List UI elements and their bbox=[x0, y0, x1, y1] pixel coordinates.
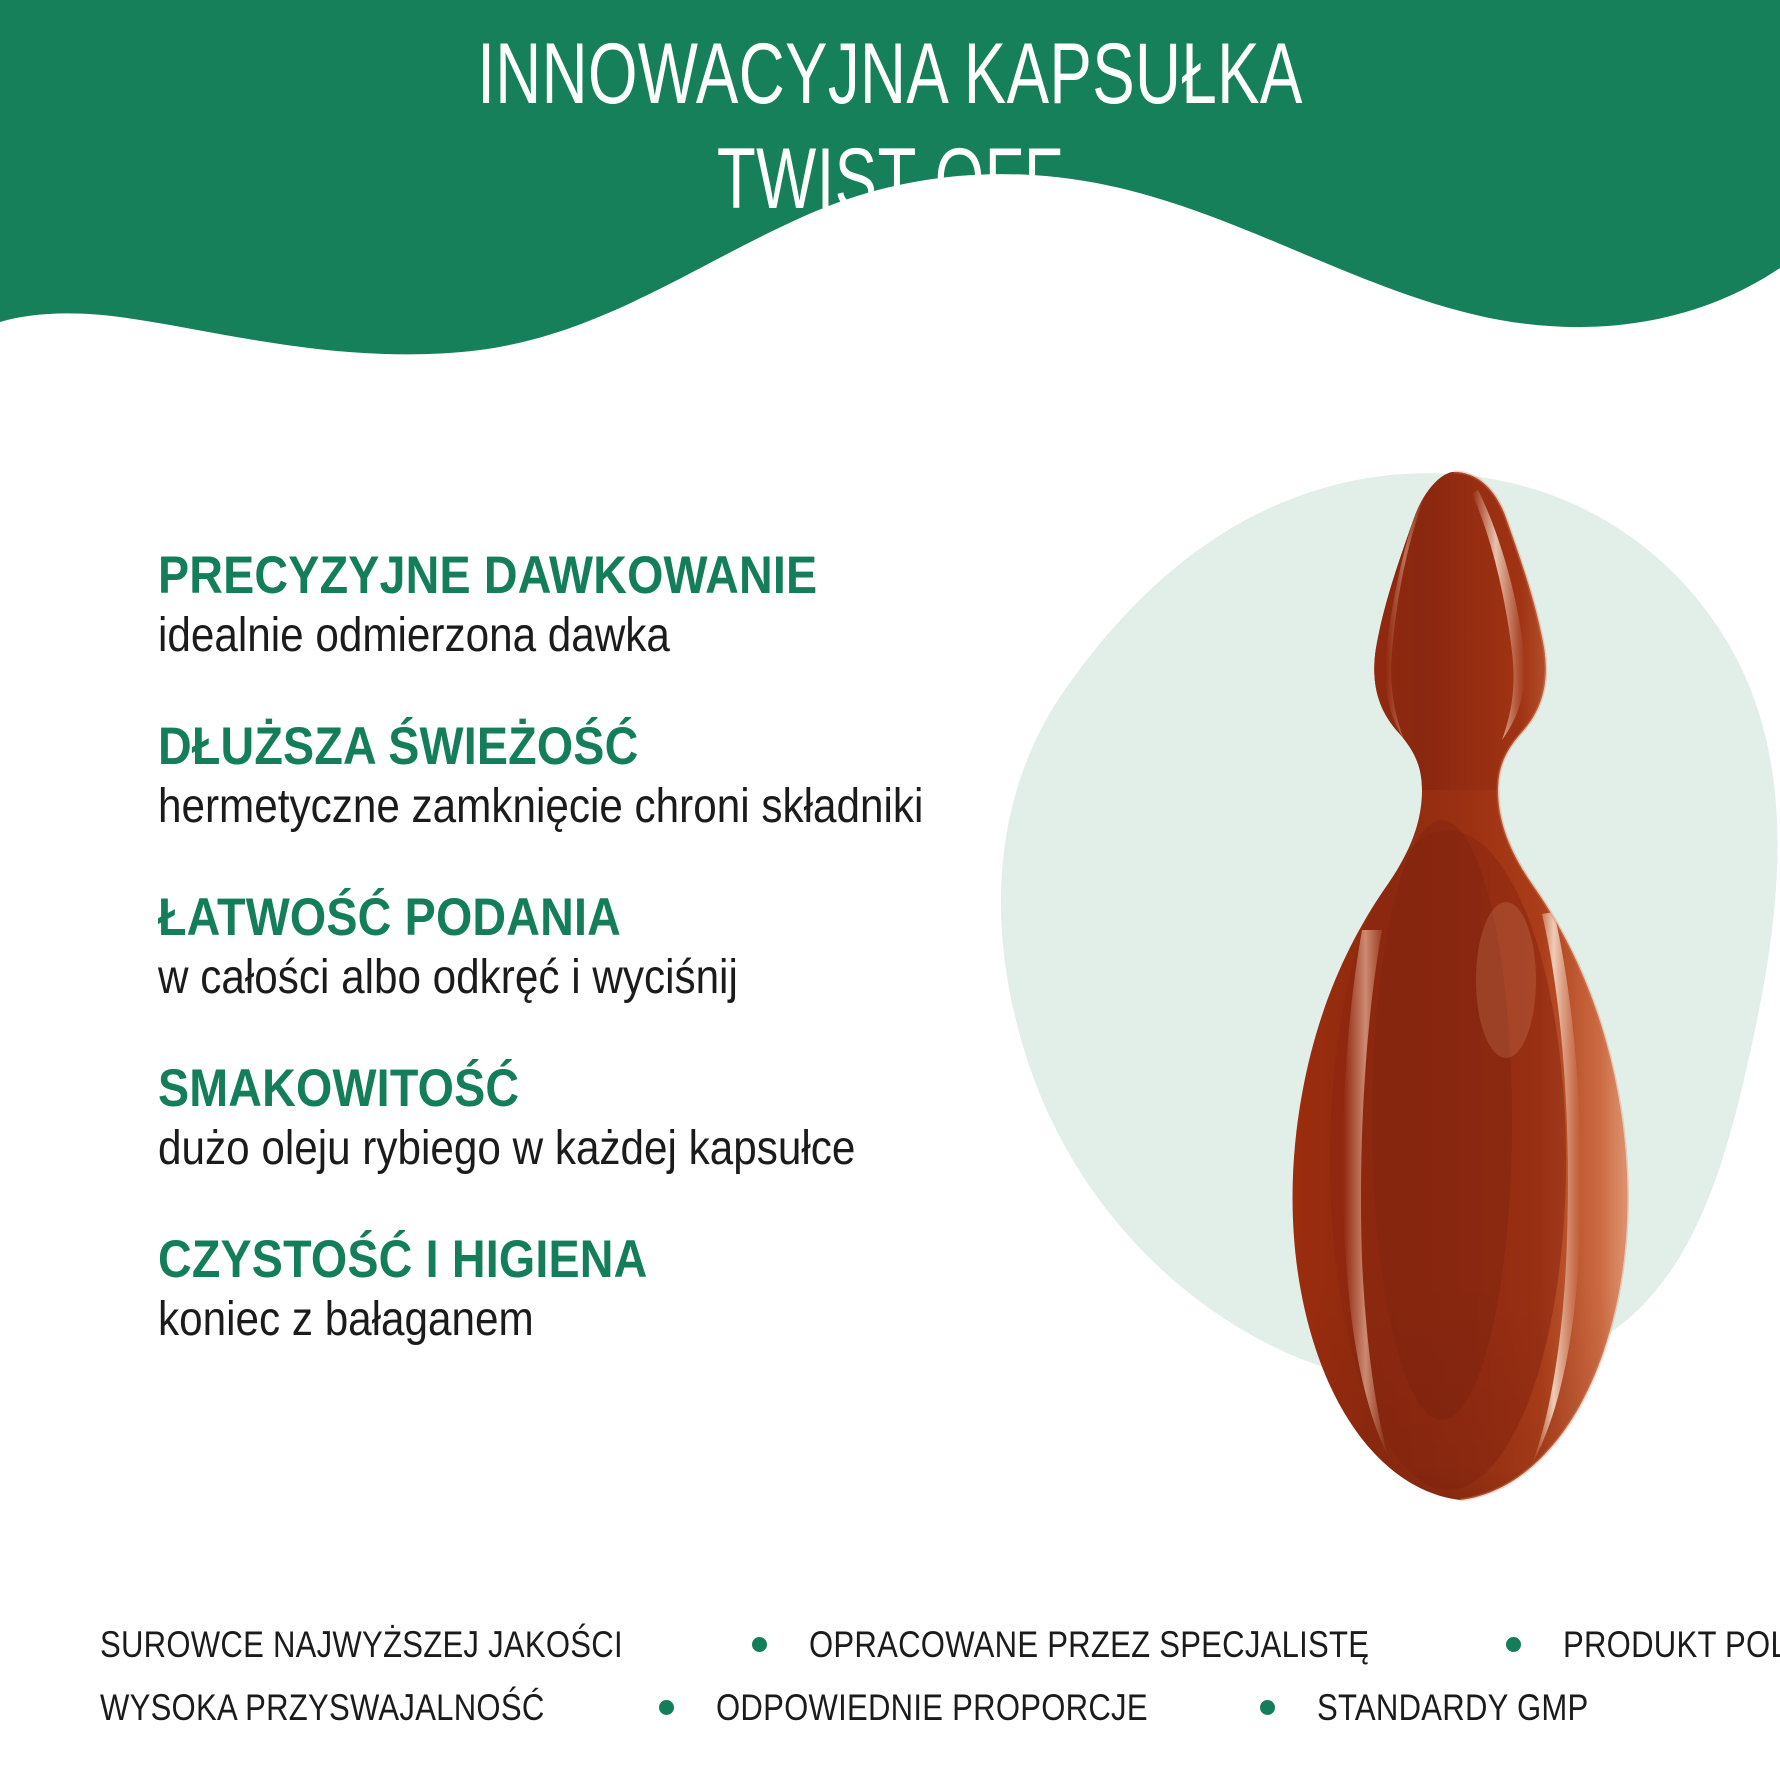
header-band: INNOWACYJNA KAPSUŁKA TWIST-OFF bbox=[0, 0, 1780, 360]
feature-title: SMAKOWITOŚĆ bbox=[158, 1061, 1038, 1117]
badge-label: SUROWCE NAJWYŻSZEJ JAKOŚCI bbox=[100, 1626, 623, 1663]
badge-label: OPRACOWANE PRZEZ SPECJALISTĘ bbox=[809, 1626, 1369, 1663]
infographic-canvas: INNOWACYJNA KAPSUŁKA TWIST-OFF Kapsułka … bbox=[0, 0, 1780, 1780]
bullet-dot-icon bbox=[1260, 1700, 1275, 1715]
badge-row-top: SUROWCE NAJWYŻSZEJ JAKOŚCI OPRACOWANE PR… bbox=[0, 1626, 1780, 1663]
feature-subtitle: dużo oleju rybiego w każdej kapsułce bbox=[158, 1123, 1038, 1176]
badge-label: STANDARDY GMP bbox=[1317, 1689, 1589, 1726]
feature-item-czystosc-i-higiena: CZYSTOŚĆ I HIGIENA koniec z bałaganem bbox=[158, 1232, 1158, 1347]
feature-subtitle: hermetyczne zamknięcie chroni składniki bbox=[158, 781, 1038, 834]
feature-subtitle: w całości albo odkręć i wyciśnij bbox=[158, 952, 1038, 1005]
capsule-body bbox=[1210, 460, 1710, 1550]
badge-label: ODPOWIEDNIE PROPORCJE bbox=[716, 1689, 1148, 1726]
feature-list: PRECYZYJNE DAWKOWANIE idealnie odmierzon… bbox=[158, 548, 1158, 1347]
feature-item-precyzyjne-dawkowanie: PRECYZYJNE DAWKOWANIE idealnie odmierzon… bbox=[158, 548, 1158, 663]
feature-subtitle: koniec z bałaganem bbox=[158, 1294, 1038, 1347]
feature-title: ŁATWOŚĆ PODANIA bbox=[158, 890, 1038, 946]
bullet-dot-icon bbox=[752, 1637, 767, 1652]
bullet-dot-icon bbox=[1506, 1637, 1521, 1652]
feature-title: CZYSTOŚĆ I HIGIENA bbox=[158, 1232, 1038, 1288]
badge-row-bottom: WYSOKA PRZYSWAJALNOŚĆ ODPOWIEDNIE PROPOR… bbox=[0, 1689, 1780, 1726]
feature-title: PRECYZYJNE DAWKOWANIE bbox=[158, 548, 1038, 604]
capsule-product-image: Kapsułka twist-off bbox=[1210, 460, 1710, 1550]
feature-item-smakowitosc: SMAKOWITOŚĆ dużo oleju rybiego w każdej … bbox=[158, 1061, 1158, 1176]
footer-badges: SUROWCE NAJWYŻSZEJ JAKOŚCI OPRACOWANE PR… bbox=[0, 1626, 1780, 1752]
badge-label: WYSOKA PRZYSWAJALNOŚĆ bbox=[100, 1689, 545, 1726]
feature-item-dluzsza-swiezosc: DŁUŻSZA ŚWIEŻOŚĆ hermetyczne zamknięcie … bbox=[158, 719, 1158, 834]
feature-item-latwosc-podania: ŁATWOŚĆ PODANIA w całości albo odkręć i … bbox=[158, 890, 1158, 1005]
feature-title: DŁUŻSZA ŚWIEŻOŚĆ bbox=[158, 719, 1038, 775]
feature-subtitle: idealnie odmierzona dawka bbox=[158, 610, 1038, 663]
badge-label: PRODUKT POLSKI bbox=[1563, 1626, 1780, 1663]
bullet-dot-icon bbox=[659, 1700, 674, 1715]
